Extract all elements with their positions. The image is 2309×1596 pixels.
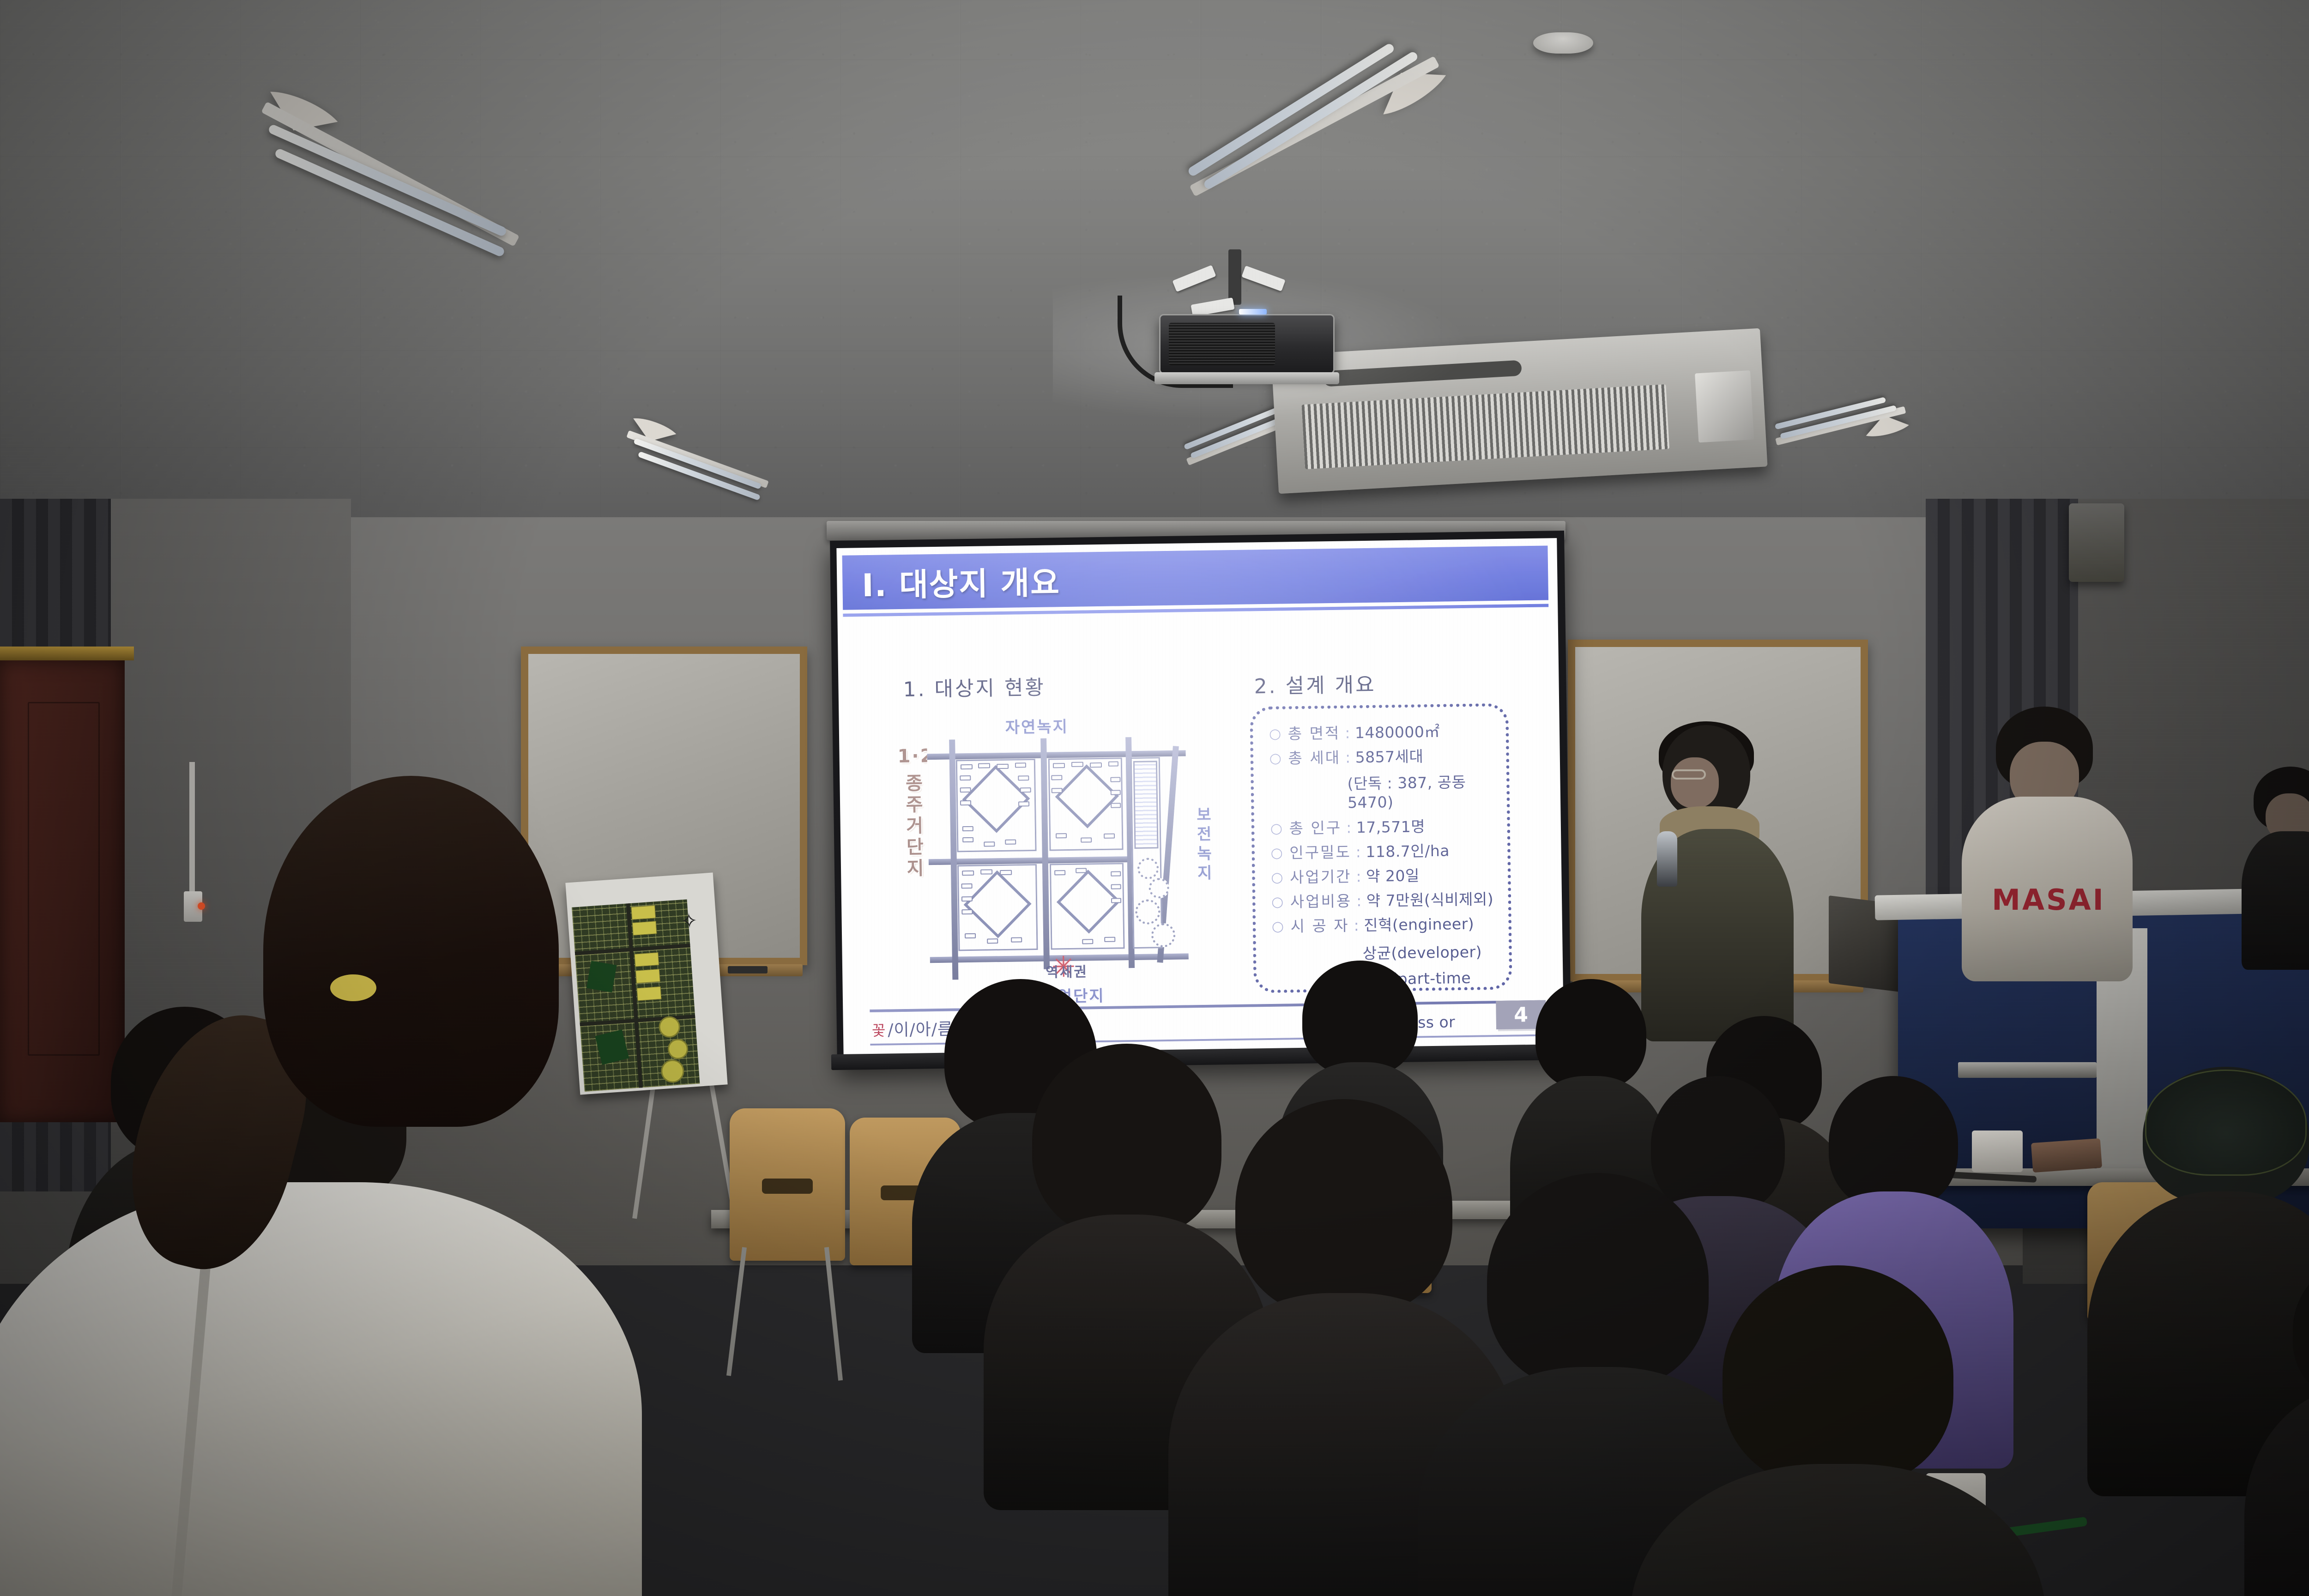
summary-row: ○ 총 인구 : 17,571명 [1270, 817, 1495, 838]
bullet-icon: ○ [1272, 918, 1284, 935]
ac-louver [1323, 360, 1522, 387]
summary-value: 약 20일 [1366, 867, 1420, 886]
summary-label: 인구밀도 [1289, 843, 1351, 862]
ac-grille [1302, 384, 1670, 469]
summary-label: 사업비용 [1290, 892, 1352, 911]
hair-tie [330, 974, 376, 1001]
summary-row: ○ 사업기간 : 약 20일 [1271, 866, 1495, 887]
map-label-residential-zone: 종주거단지 [899, 773, 927, 880]
summary-separator: : [1354, 917, 1359, 935]
slide-section-heading-left: 1. 대상지 현황 [903, 671, 1046, 702]
torso [2242, 831, 2309, 970]
summary-row: ○ 시 공 자 : 진혁(engineer) [1272, 915, 1496, 936]
summary-separator: : [1356, 843, 1361, 861]
summary-row: ○ 인구밀도 : 118.7인/ha [1270, 841, 1495, 863]
summary-value: 17,571명 [1356, 818, 1426, 837]
summary-row: ○ 총 면적 : 1480000㎡ [1269, 722, 1493, 744]
glasses-icon [1672, 769, 1706, 780]
whiteboard-marker[interactable] [728, 966, 768, 973]
bullet-icon: ○ [1271, 893, 1284, 911]
projector [1159, 314, 1335, 374]
summary-separator: : [1356, 892, 1362, 910]
baseball-cap-icon [2145, 1070, 2307, 1176]
summary-household-detail: (단독 : 387, 공동 5470) [1347, 769, 1494, 811]
site-map: 자연녹지 첨단산업단지 보전녹지 1·2 종주거단지 [889, 713, 1226, 1004]
foreground-woman-white-coat [0, 776, 707, 1596]
summary-label: 사업기간 [1290, 868, 1352, 887]
bullet-icon: ○ [1269, 750, 1282, 767]
projector-status-led [1239, 309, 1267, 314]
person-at-lectern: MASAI [1953, 707, 2147, 993]
presenter-with-microphone [1644, 725, 1801, 1048]
classroom-chair[interactable] [730, 1108, 845, 1261]
bullet-icon: ○ [1270, 820, 1283, 837]
contractor-entry: 상균(developer) [1362, 939, 1497, 963]
design-summary-box: ○ 총 면적 : 1480000㎡ ○ 총 세대 : 5857세대 (단독 : … [1250, 703, 1512, 993]
snack-container [2031, 1138, 2102, 1173]
summary-label: 총 면적 [1287, 725, 1340, 744]
audience-member [2263, 1256, 2309, 1596]
slide-section-heading-right: 2. 설계 개요 [1254, 668, 1376, 700]
smoke-detector-icon [1533, 32, 1593, 54]
summary-value: 1480000㎡ [1355, 723, 1440, 743]
summary-row: ○ 사업비용 : 약 7만원(식비제외) [1271, 890, 1496, 912]
footer-flower-icon: 꽃 [872, 1022, 886, 1040]
slide-title-bar: Ⅰ. 대상지 개요 [842, 545, 1548, 610]
door-frame [0, 647, 134, 660]
summary-value: 진혁(engineer) [1364, 915, 1474, 934]
summary-separator: : [1345, 749, 1351, 767]
summary-label: 총 세대 [1288, 749, 1341, 768]
chair-leg [726, 1247, 747, 1376]
summary-value: 약 7만원(식비제외) [1366, 890, 1494, 910]
chair-leg [824, 1247, 843, 1380]
ceiling-air-conditioner [1271, 328, 1767, 494]
summary-separator: : [1356, 868, 1361, 886]
map-label-station-area: 역세권 [1046, 960, 1088, 981]
map-canvas: ✳ [927, 736, 1189, 985]
summary-separator: : [1346, 819, 1352, 837]
white-winter-coat [0, 1182, 642, 1596]
slide-title: Ⅰ. 대상지 개요 [862, 557, 1061, 605]
ceiling-texture [0, 0, 2309, 545]
ceiling [0, 0, 2309, 545]
ac-vent [1695, 370, 1754, 442]
summary-value: 118.7인/ha [1366, 842, 1450, 861]
map-label-conservation-green: 보전녹지 [1191, 806, 1215, 884]
microphone-icon [1657, 831, 1677, 887]
summary-value: 5857세대 [1355, 748, 1423, 767]
map-label-natural-green: 자연녹지 [1005, 714, 1069, 738]
person-standing-right [2254, 767, 2309, 979]
summary-label: 시 공 자 [1290, 917, 1349, 936]
wall-speaker [2069, 503, 2124, 582]
summary-row: ○ 총 세대 : 5857세대 [1269, 747, 1494, 768]
lecture-hall-scene: Ⅰ. 대상지 개요 1. 대상지 현황 2. 설계 개요 자연녹지 첨단산업단지… [0, 0, 2309, 1596]
summary-label: 총 인구 [1289, 819, 1342, 838]
bullet-icon: ○ [1270, 844, 1283, 862]
hair [263, 776, 559, 1127]
projector-base-plate [1154, 372, 1339, 384]
face [1671, 757, 1719, 808]
lectern-shelf [1958, 1062, 2097, 1078]
summary-separator: : [1345, 724, 1350, 742]
bullet-icon: ○ [1271, 869, 1283, 886]
audience-member [1662, 1265, 2013, 1596]
bullet-icon: ○ [1269, 725, 1281, 743]
hoodie-logo-text: MASAI [1984, 883, 2113, 917]
